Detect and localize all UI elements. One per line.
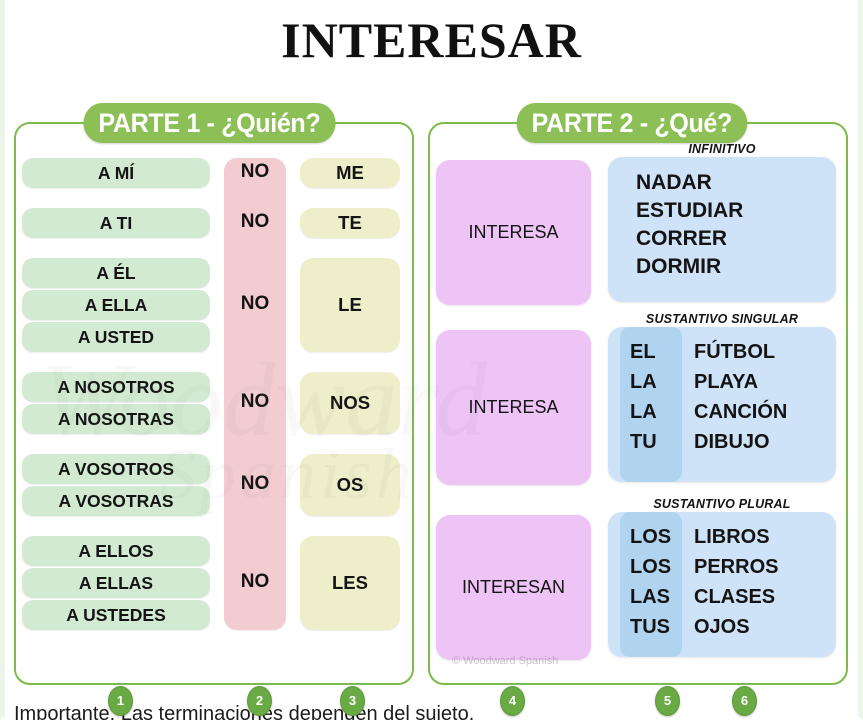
noun-article: LA [620,401,682,424]
noun-word: FÚTBOL [682,341,775,364]
pronoun-pill: A ÉL [22,258,210,288]
copyright-watermark: © Woodward Spanish [452,655,558,667]
complement-group: SUSTANTIVO PLURALLOSLIBROSLOSPERROSLASCL… [608,497,836,657]
noun-article: LAS [620,586,682,609]
infinitive-list: NADARESTUDIARCORRERDORMIR [608,157,836,293]
indirect-object-pronoun-box: LES [300,536,400,630]
noun-word: OJOS [682,616,750,639]
complement-caption: SUSTANTIVO PLURAL [608,497,836,512]
complement-caption: SUSTANTIVO SINGULAR [608,312,836,327]
noun-row: TUSOJOS [608,612,836,642]
noun-article: LOS [620,556,682,579]
noun-rows: ELFÚTBOLLAPLAYALACANCIÓNTUDIBUJO [608,327,836,467]
no-label: NO [224,161,286,183]
pronoun-pill: A USTED [22,322,210,352]
pronoun-pill: A NOSOTRAS [22,404,210,434]
noun-article: LOS [620,526,682,549]
noun-article: TUS [620,616,682,639]
complement-box: LOSLIBROSLOSPERROSLASCLASESTUSOJOS [608,512,836,657]
complement-box: ELFÚTBOLLAPLAYALACANCIÓNTUDIBUJO [608,327,836,482]
noun-row: LACANCIÓN [608,397,836,427]
pronoun-pill: A MÍ [22,158,210,188]
noun-word: PERROS [682,556,778,579]
indirect-object-pronoun-box: OS [300,454,400,516]
infinitive-item: DORMIR [636,253,836,281]
complement-box: NADARESTUDIARCORRERDORMIR [608,157,836,302]
noun-row: LAPLAYA [608,367,836,397]
indirect-object-pronoun-box: NOS [300,372,400,434]
complement-group: SUSTANTIVO SINGULARELFÚTBOLLAPLAYALACANC… [608,312,836,482]
pronoun-pill: A ELLA [22,290,210,320]
no-label: NO [224,211,286,233]
indirect-object-pronoun-box: TE [300,208,400,238]
indirect-object-pronoun-box: ME [300,158,400,188]
noun-row: LASCLASES [608,582,836,612]
page-title: INTERESAR [0,10,863,70]
part2-badge: PARTE 2 - ¿Qué? [517,103,747,143]
pronoun-pill: A VOSOTRAS [22,486,210,516]
noun-article: TU [620,431,682,454]
complement-caption: INFINITIVO [608,142,836,157]
noun-row: LOSPERROS [608,552,836,582]
noun-rows: LOSLIBROSLOSPERROSLASCLASESTUSOJOS [608,512,836,652]
part1-badge: PARTE 1 - ¿Quién? [83,103,335,143]
pronoun-pill: A TI [22,208,210,238]
pronoun-pill: A ELLOS [22,536,210,566]
noun-word: CANCIÓN [682,401,787,424]
noun-article: LA [620,371,682,394]
infinitive-item: ESTUDIAR [636,197,836,225]
pronoun-pill: A ELLAS [22,568,210,598]
step-number-badge: 1 [108,686,133,716]
worksheet: Woodward Spanish INTERESAR PARTE 1 - ¿Qu… [0,0,863,720]
pronoun-pill: A VOSOTROS [22,454,210,484]
noun-word: CLASES [682,586,775,609]
no-label: NO [224,391,286,413]
noun-word: PLAYA [682,371,758,394]
no-label: NO [224,473,286,495]
infinitive-item: NADAR [636,169,836,197]
noun-word: DIBUJO [682,431,770,454]
step-number-badge: 3 [340,686,365,716]
noun-article: EL [620,341,682,364]
verb-form-box: INTERESA [436,330,591,485]
indirect-object-pronoun-box: LE [300,258,400,352]
verb-form-box: INTERESA [436,160,591,305]
noun-row: TUDIBUJO [608,427,836,457]
noun-word: LIBROS [682,526,770,549]
no-label: NO [224,571,286,593]
verb-form-box: INTERESAN [436,515,591,660]
pronoun-pill: A USTEDES [22,600,210,630]
complement-group: INFINITIVONADARESTUDIARCORRERDORMIR [608,142,836,302]
step-number-badge: 2 [247,686,272,716]
no-label: NO [224,293,286,315]
pronoun-pill: A NOSOTROS [22,372,210,402]
noun-row: ELFÚTBOL [608,337,836,367]
infinitive-item: CORRER [636,225,836,253]
noun-row: LOSLIBROS [608,522,836,552]
step-number-badge: 4 [500,686,525,716]
step-number-badge: 6 [732,686,757,716]
step-number-badge: 5 [655,686,680,716]
